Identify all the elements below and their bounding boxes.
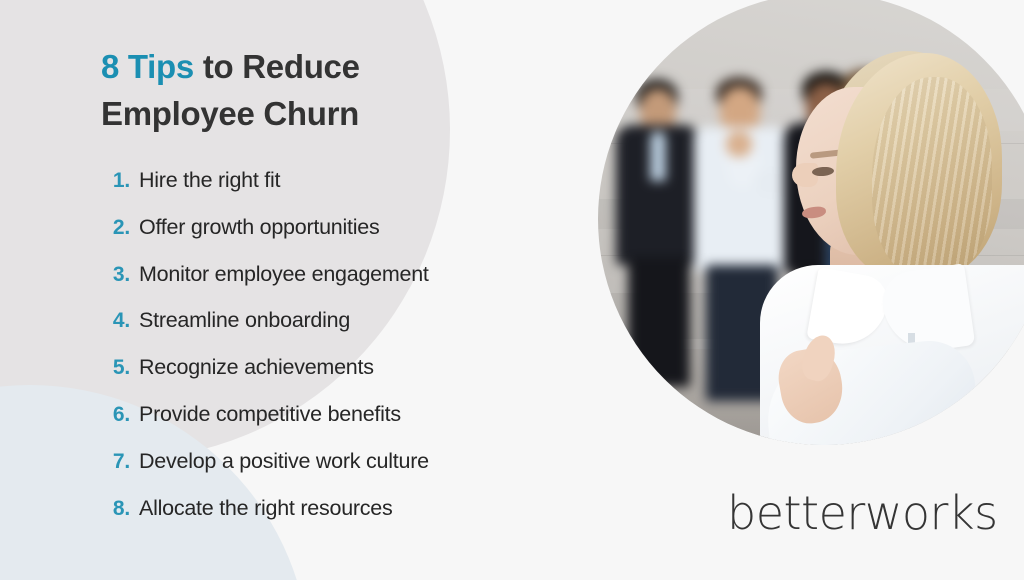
tips-list: 1. Hire the right fit 2. Offer growth op… bbox=[96, 168, 566, 542]
page-title: 8 Tips to Reduce Employee Churn bbox=[101, 44, 551, 138]
list-item-label: Allocate the right resources bbox=[139, 496, 393, 521]
foreground-businesswoman bbox=[776, 47, 1024, 445]
list-item-number: 4. bbox=[96, 309, 130, 333]
list-item-label: Monitor employee engagement bbox=[139, 262, 429, 287]
list-item-number: 8. bbox=[96, 497, 130, 521]
title-accent: 8 Tips bbox=[101, 48, 194, 85]
title-line-2: Employee Churn bbox=[101, 91, 551, 138]
list-item: 8. Allocate the right resources bbox=[96, 496, 566, 543]
list-item-label: Provide competitive benefits bbox=[139, 402, 401, 427]
list-item-label: Recognize achievements bbox=[139, 355, 374, 380]
list-item: 6. Provide competitive benefits bbox=[96, 402, 566, 449]
list-item-label: Offer growth opportunities bbox=[139, 215, 380, 240]
list-item: 7. Develop a positive work culture bbox=[96, 449, 566, 496]
list-item-number: 3. bbox=[96, 263, 130, 287]
list-item-number: 5. bbox=[96, 356, 130, 380]
infographic-canvas: 8 Tips to Reduce Employee Churn 1. Hire … bbox=[0, 0, 1024, 580]
list-item-number: 2. bbox=[96, 216, 130, 240]
title-rest: to Reduce bbox=[194, 48, 360, 85]
hero-photo-circle bbox=[598, 0, 1024, 445]
list-item-number: 1. bbox=[96, 169, 130, 193]
list-item-label: Develop a positive work culture bbox=[139, 449, 429, 474]
betterworks-logo: betterworks bbox=[727, 490, 998, 536]
list-item-label: Hire the right fit bbox=[139, 168, 280, 193]
list-item-number: 6. bbox=[96, 403, 130, 427]
list-item-number: 7. bbox=[96, 450, 130, 474]
list-item: 2. Offer growth opportunities bbox=[96, 215, 566, 262]
list-item: 1. Hire the right fit bbox=[96, 168, 566, 215]
list-item: 3. Monitor employee engagement bbox=[96, 262, 566, 309]
list-item: 4. Streamline onboarding bbox=[96, 308, 566, 355]
content-column: 8 Tips to Reduce Employee Churn 1. Hire … bbox=[0, 0, 600, 580]
list-item-label: Streamline onboarding bbox=[139, 308, 350, 333]
list-item: 5. Recognize achievements bbox=[96, 355, 566, 402]
hair-strand-texture bbox=[872, 77, 992, 277]
